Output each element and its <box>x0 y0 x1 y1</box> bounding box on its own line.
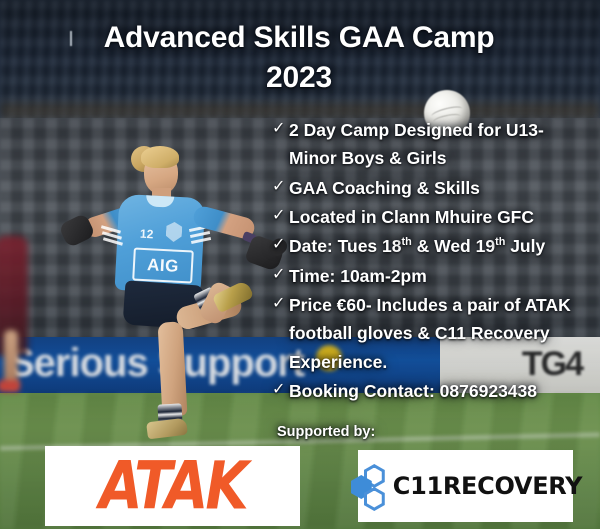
list-item-label-cont: & Wed 19 <box>412 236 495 256</box>
poster: Serious Support TG4 12 <box>0 0 600 529</box>
list-item-booking: ✓ Booking Contact: 0876923438 <box>272 377 584 405</box>
list-item-label: GAA Coaching & Skills <box>289 178 480 198</box>
player-hair <box>141 146 179 168</box>
list-item-date: ✓ Date: Tues 18th & Wed 19th July <box>272 232 584 260</box>
list-item-label: Date: Tues 18 <box>289 236 402 256</box>
sponsor-logo-atak: ATAK <box>45 446 300 526</box>
title-line-1: Advanced Skills GAA Camp <box>74 18 524 58</box>
atak-wordmark: ATAK <box>99 448 246 525</box>
list-item-label-tail: July <box>505 236 545 256</box>
title-line-2: 2023 <box>74 58 524 98</box>
check-icon: ✓ <box>272 262 285 288</box>
list-item: ✓ 2 Day Camp Designed for U13-Minor Boys… <box>272 116 584 173</box>
list-item-label: Price €60- Includes a pair of ATAK footb… <box>289 295 571 372</box>
list-item-label: Located in Clann Mhuire GFC <box>289 207 534 227</box>
list-item-label: Booking Contact: 0876923438 <box>289 381 537 401</box>
jersey-number: 12 <box>140 227 154 242</box>
list-item: ✓ Located in Clann Mhuire GFC <box>272 203 584 231</box>
date-ordinal-suffix-2: th <box>495 237 505 249</box>
list-item: ✓ GAA Coaching & Skills <box>272 174 584 202</box>
check-icon: ✓ <box>272 377 285 403</box>
check-icon: ✓ <box>272 232 285 258</box>
list-item-label: Time: 10am-2pm <box>289 266 427 286</box>
check-icon: ✓ <box>272 174 285 200</box>
check-icon: ✓ <box>272 291 285 317</box>
camp-details-list: ✓ 2 Day Camp Designed for U13-Minor Boys… <box>272 116 584 406</box>
check-icon: ✓ <box>272 116 285 142</box>
jersey-sponsor-logo: AIG <box>132 247 194 283</box>
list-item: ✓ Time: 10am-2pm <box>272 262 584 290</box>
list-item: ✓ Price €60- Includes a pair of ATAK foo… <box>272 291 584 376</box>
hexagon-icon <box>349 463 387 509</box>
supported-by-label: Supported by: <box>277 424 375 440</box>
sponsor-logo-c11recovery: C11RECOVERY <box>358 450 573 522</box>
page-title: Advanced Skills GAA Camp 2023 <box>74 18 524 98</box>
background-player-boot <box>0 380 20 392</box>
player-standing-boot <box>146 418 188 440</box>
list-item-label: 2 Day Camp Designed for U13-Minor Boys &… <box>289 120 544 168</box>
date-ordinal-suffix-1: th <box>402 237 412 249</box>
c11recovery-wordmark: C11RECOVERY <box>393 472 582 500</box>
player-standing-leg <box>158 321 188 416</box>
check-icon: ✓ <box>272 203 285 229</box>
